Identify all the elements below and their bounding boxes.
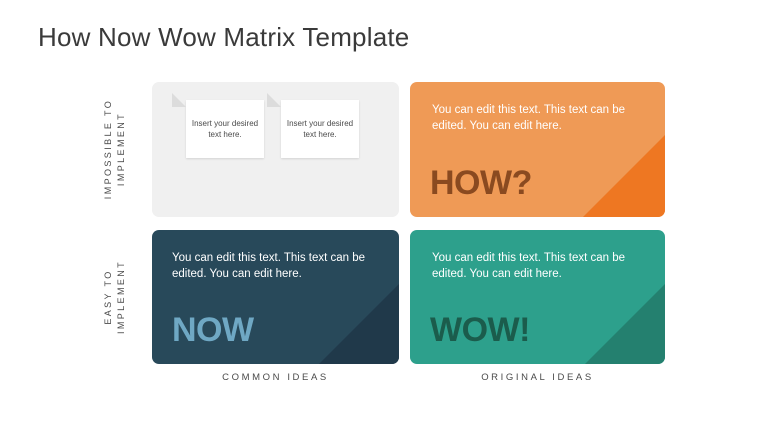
quadrant-wow-keyword: WOW!: [430, 311, 530, 350]
quadrant-ideas-panel[interactable]: Insert your desired text here. Insert yo…: [152, 82, 399, 217]
quadrant-how-keyword: HOW?: [430, 164, 532, 203]
corner-wedge-icon: [583, 135, 665, 217]
how-now-wow-matrix: IMPOSSIBLE TO IMPLEMENT EASY TO IMPLEMEN…: [0, 82, 768, 364]
axis-label-impossible-to-implement: IMPOSSIBLE TO IMPLEMENT: [92, 82, 138, 216]
quadrant-how[interactable]: You can edit this text. This text can be…: [410, 82, 665, 217]
quadrant-wow[interactable]: You can edit this text. This text can be…: [410, 230, 665, 364]
axis-label-impossible-line1: IMPOSSIBLE TO: [103, 99, 113, 199]
corner-wedge-icon: [319, 284, 399, 364]
axis-label-easy-to-implement: EASY TO IMPLEMENT: [92, 230, 138, 364]
corner-fold-icon: [172, 93, 186, 107]
quadrant-now-body: You can edit this text. This text can be…: [172, 250, 372, 282]
quadrant-now-keyword: NOW: [172, 311, 254, 350]
sticky-note-text: Insert your desired text here.: [281, 118, 359, 140]
axis-label-easy-line2: IMPLEMENT: [116, 260, 126, 334]
quadrant-now[interactable]: You can edit this text. This text can be…: [152, 230, 399, 364]
corner-fold-icon: [267, 93, 281, 107]
sticky-note[interactable]: Insert your desired text here.: [186, 100, 264, 158]
sticky-note[interactable]: Insert your desired text here.: [281, 100, 359, 158]
page-title: How Now Wow Matrix Template: [38, 22, 409, 53]
quadrant-how-body: You can edit this text. This text can be…: [432, 102, 632, 134]
axis-label-original-ideas: ORIGINAL IDEAS: [410, 372, 665, 383]
axis-label-impossible-line2: IMPLEMENT: [116, 112, 126, 186]
axis-label-common-ideas: COMMON IDEAS: [152, 372, 399, 383]
sticky-note-text: Insert your desired text here.: [186, 118, 264, 140]
axis-label-easy-line1: EASY TO: [103, 269, 113, 324]
quadrant-wow-body: You can edit this text. This text can be…: [432, 250, 632, 282]
corner-wedge-icon: [585, 284, 665, 364]
